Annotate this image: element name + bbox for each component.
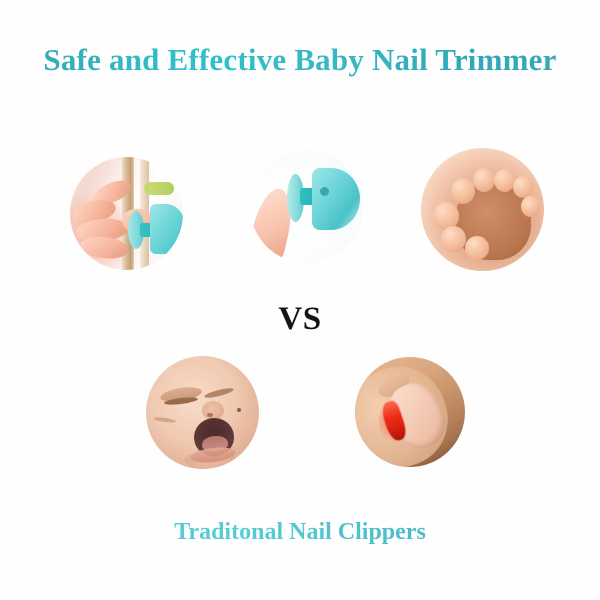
toe-shape [521,196,540,217]
page-title: Safe and Effective Baby Nail Trimmer [0,42,600,78]
trimmer-port-shape [320,187,329,196]
trimmer-body-shape [150,204,183,254]
photo-finger-pressing-device [250,150,363,263]
product-comparison-poster: Safe and Effective Baby Nail Trimmer [0,0,600,600]
photo-injured-nail [355,357,465,467]
toe-shape [465,236,489,260]
toe-shape [441,226,466,252]
mole-shape [237,408,241,412]
toe-shape [513,176,533,198]
green-accent-shape [144,182,174,195]
toe-shape [473,168,495,192]
photo-baby-feet [421,148,544,271]
photo-hand-with-trimmer [70,157,183,270]
toe-shape [451,178,475,204]
toe-shape [494,169,515,192]
versus-label: VS [0,301,600,338]
nostril-shape [207,413,213,417]
photo-crying-baby [146,356,259,469]
bottom-caption: Traditonal Nail Clippers [0,519,600,546]
